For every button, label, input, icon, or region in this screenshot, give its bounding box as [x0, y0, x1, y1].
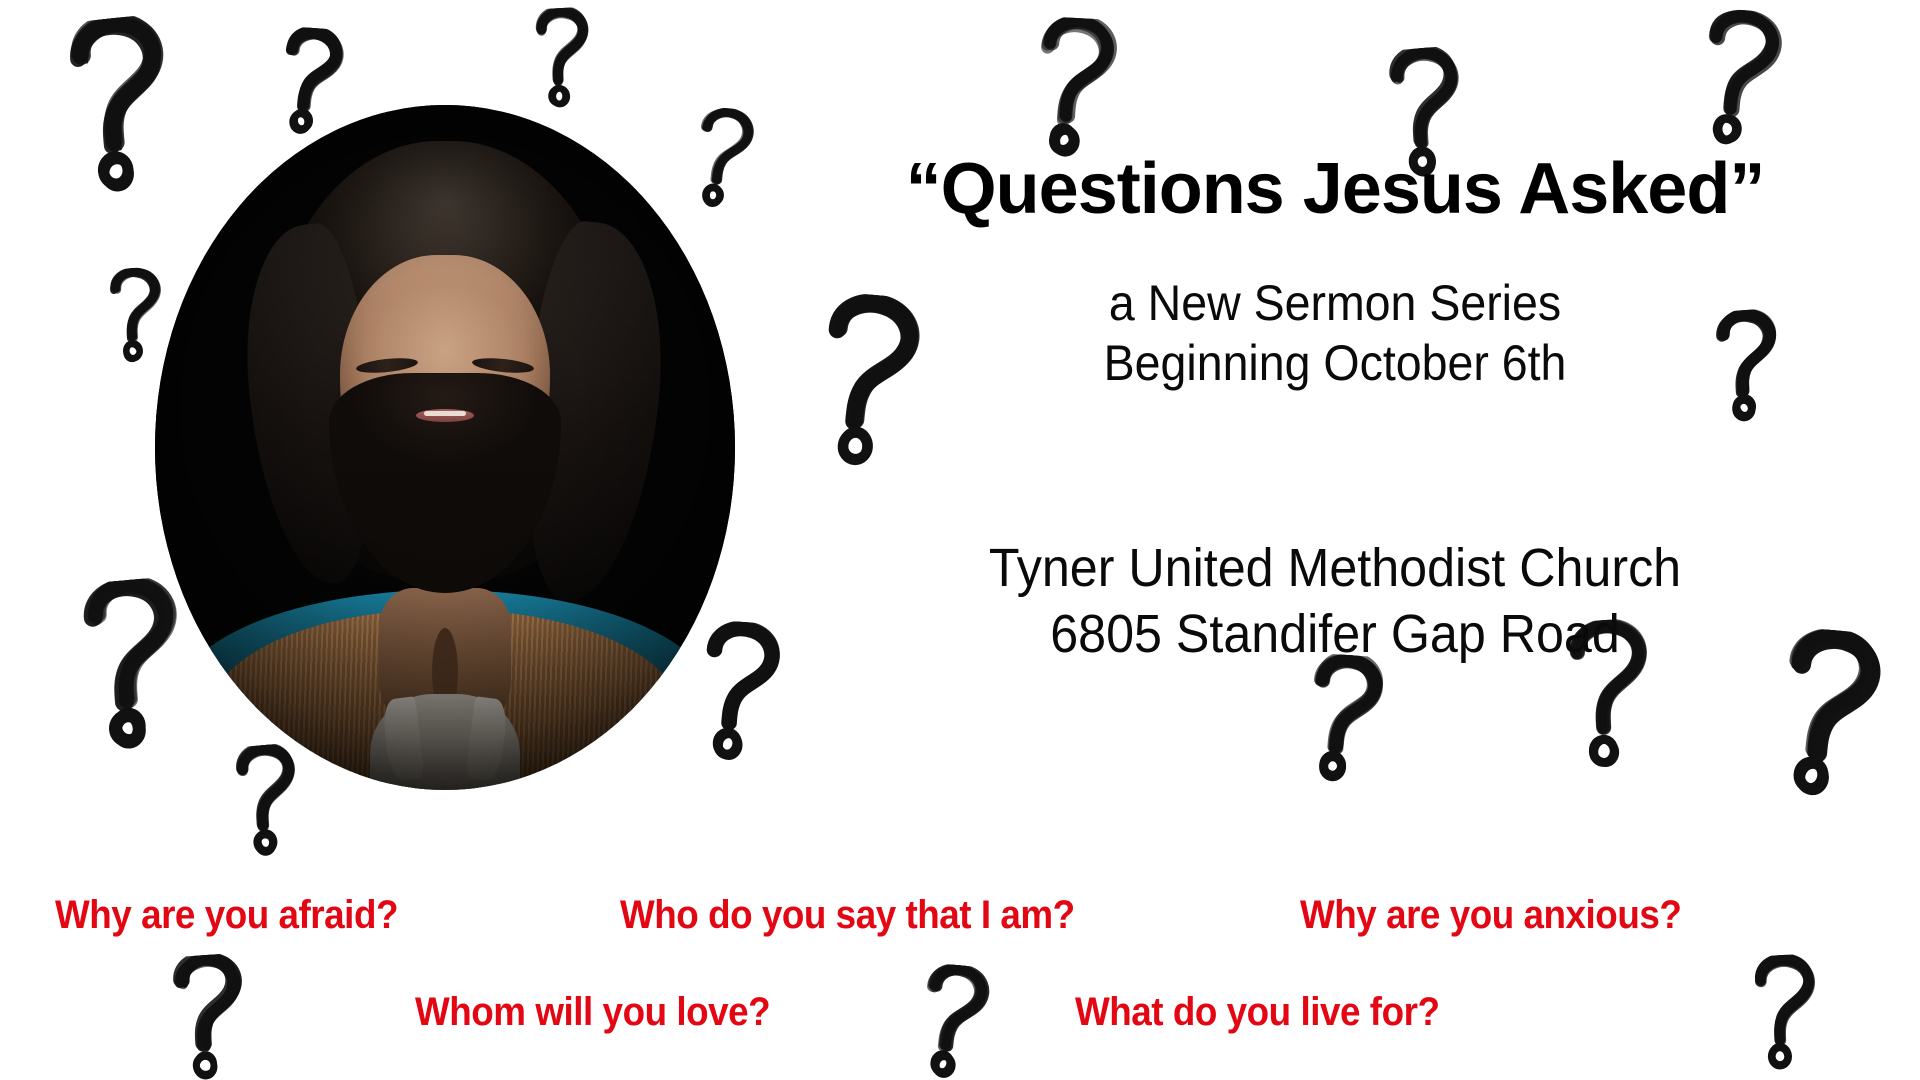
question-mark-doodle-icon — [1732, 952, 1838, 1075]
sermon-question: Why are you anxious? — [1300, 893, 1681, 938]
subtitle-line-1: a New Sermon Series — [828, 274, 1842, 333]
question-mark-doodle-icon — [900, 961, 1008, 1080]
sermon-question: Whom will you love? — [415, 990, 770, 1035]
subtitle-line-2: Beginning October 6th — [828, 334, 1842, 393]
question-mark-doodle-icon — [517, 6, 608, 112]
sermon-question: Who do you say that I am? — [620, 893, 1075, 938]
sermon-question: Why are you afraid? — [55, 893, 398, 938]
page-title: “Questions Jesus Asked” — [790, 152, 1880, 228]
venue-name: Tyner United Methodist Church — [828, 536, 1842, 602]
venue-block: Tyner United Methodist Church 6805 Stand… — [828, 536, 1842, 668]
mouth — [416, 409, 474, 422]
poster-canvas: “Questions Jesus Asked” a New Sermon Ser… — [0, 0, 1920, 1080]
question-mark-doodle-icon — [151, 951, 268, 1080]
venue-address: 6805 Standifer Gap Road — [828, 602, 1842, 668]
question-mark-doodle-icon — [1011, 15, 1138, 163]
question-mark-doodle-icon — [1675, 6, 1802, 153]
inner-tunic — [370, 694, 520, 790]
question-mark-doodle-icon — [1286, 651, 1405, 788]
sermon-question: What do you live for? — [1075, 990, 1439, 1035]
jesus-portrait-image — [155, 105, 735, 790]
